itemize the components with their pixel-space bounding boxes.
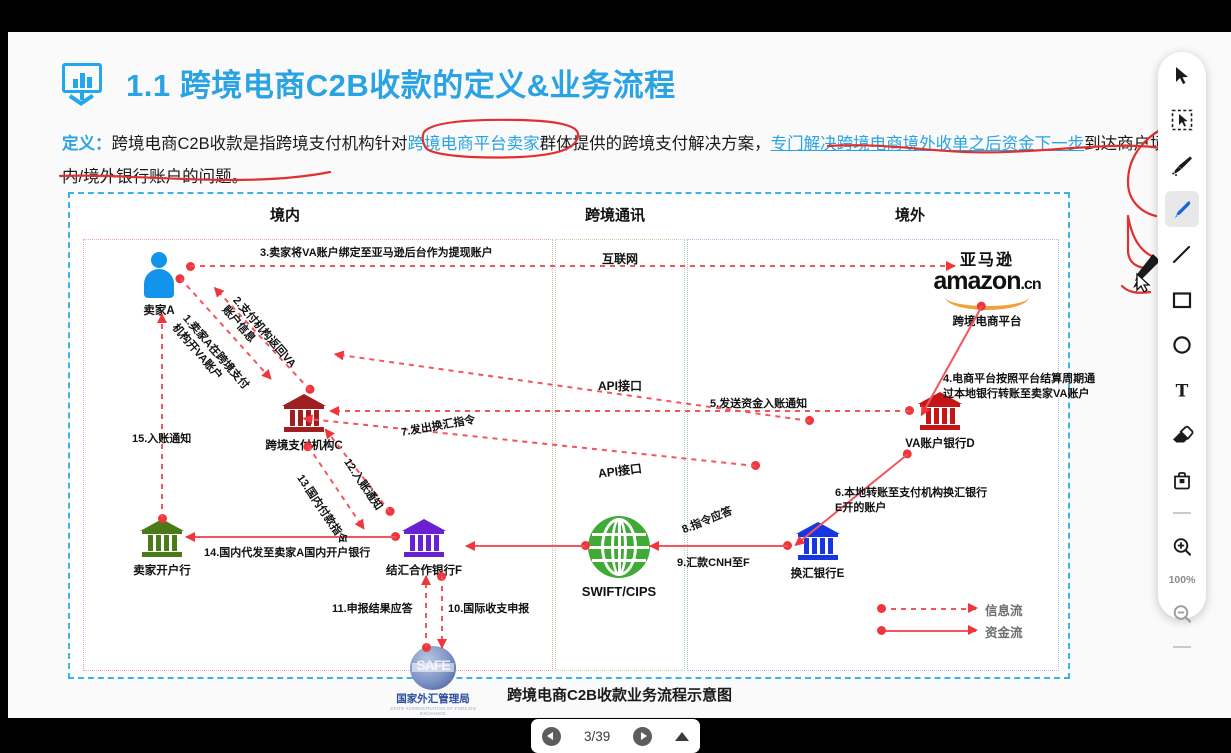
page-indicator: 3/39 (584, 729, 610, 744)
presentation-chart-icon (60, 61, 104, 105)
pen-icon[interactable] (1158, 187, 1206, 232)
node-settlement-bank-f-icon (402, 519, 446, 557)
legend-label-info-flow: 信息流 (985, 600, 1023, 619)
flow-label-10: 10.国际收支申报 (448, 602, 529, 616)
letterbox-top (0, 0, 1231, 32)
node-seller-opening-bank-icon (140, 519, 184, 557)
amazon-tld: .cn (1020, 276, 1040, 293)
line-icon[interactable] (1158, 232, 1206, 277)
flow-label-9: 9.汇款CNH至F (677, 556, 750, 570)
page-title-row: 1.1 跨境电商C2B收款的定义&业务流程 (60, 60, 676, 105)
toolbar-divider-1 (1158, 502, 1206, 524)
rectangle-icon[interactable] (1158, 277, 1206, 322)
screen: 1.1 跨境电商C2B收款的定义&业务流程 定义：跨境电商C2B收款是指跨境支付… (0, 0, 1231, 753)
flow-label-14: 14.国内代发至卖家A国内开户银行 (204, 546, 370, 560)
node-seller-a-icon (142, 252, 176, 298)
collapse-toolbar-button[interactable] (675, 732, 689, 741)
annotation-toolbar[interactable]: T 100% (1158, 52, 1206, 619)
next-page-button[interactable] (633, 727, 652, 746)
node-seller-opening-bank-label: 卖家开户行 (117, 562, 207, 578)
channel-label-api-1: API接口 (557, 379, 683, 393)
zoom-in-icon[interactable] (1158, 524, 1206, 569)
node-fx-bank-e-label: 换汇银行E (760, 565, 875, 581)
definition-label: 定义： (62, 135, 112, 153)
node-swift-cips-icon (588, 516, 650, 578)
marquee-select-icon[interactable] (1158, 97, 1206, 142)
page-navigation-bar[interactable]: 3/39 (531, 719, 700, 753)
legend-label-fund-flow: 资金流 (985, 622, 1023, 641)
legend-key-solid-icon (881, 630, 976, 632)
eraser-icon[interactable] (1158, 412, 1206, 457)
highlighter-icon[interactable] (1158, 142, 1206, 187)
prev-page-button[interactable] (542, 727, 561, 746)
flow-label-4: 4.电商平台按照平台结算周期通 过本地银行转账至卖家VA账户 (943, 372, 1095, 402)
definition-highlight-1: 跨境电商平台卖家 (408, 135, 540, 153)
node-amazon-platform: 亚马逊 amazon.cn 跨境电商平台 (922, 246, 1052, 329)
column-header-overseas: 境外 (845, 204, 975, 225)
svg-text:T: T (1176, 381, 1189, 401)
trash-icon[interactable] (1158, 457, 1206, 502)
flow-label-3: 3.卖家将VA账户绑定至亚马逊后台作为提现账户 (260, 246, 493, 260)
channel-label-internet: 互联网 (557, 252, 683, 266)
definition-part1: 跨境电商C2B收款是指跨境支付机构针对 (112, 135, 408, 153)
slide-canvas[interactable]: 1.1 跨境电商C2B收款的定义&业务流程 定义：跨境电商C2B收款是指跨境支付… (8, 32, 1231, 718)
column-header-domestic: 境内 (220, 204, 350, 225)
node-amazon-label: 跨境电商平台 (922, 313, 1052, 329)
legend-item-info-flow: 信息流 (881, 601, 1046, 623)
legend-item-fund-flow: 资金流 (881, 623, 1046, 645)
definition-highlight-2: 专门解决跨境电商境外收单之后资金下一步 (771, 135, 1085, 153)
select-cursor-icon[interactable] (1158, 52, 1206, 97)
amazon-smile-icon (945, 297, 1029, 310)
page-title: 1.1 跨境电商C2B收款的定义&业务流程 (126, 60, 676, 105)
node-va-bank-d-label: VA账户银行D (880, 435, 1000, 451)
zoom-level-label: 100% (1158, 569, 1206, 591)
diagram-legend: 信息流 资金流 (881, 601, 1046, 645)
amazon-wordmark: amazon (933, 267, 1020, 295)
flow-diagram: 境内 跨境通讯 境外 互联网 API接口 API接口 卖家A (68, 192, 1070, 679)
column-header-crossborder: 跨境通讯 (550, 204, 680, 225)
flow-label-5: 5.发送资金入账通知 (710, 397, 807, 411)
definition-paragraph: 定义：跨境电商C2B收款是指跨境支付机构针对跨境电商平台卖家群体提供的跨境支付解… (62, 128, 1167, 194)
flow-label-11: 11.申报结果应答 (332, 602, 413, 616)
flow-label-6: 6.本地转账至支付机构换汇银行 E开的账户 (835, 486, 987, 516)
diagram-caption: 跨境电商C2B收款业务流程示意图 (8, 684, 1231, 705)
zoom-out-icon[interactable] (1158, 591, 1206, 636)
toolbar-divider-2 (1158, 636, 1206, 658)
ellipse-icon[interactable] (1158, 322, 1206, 367)
node-safe-bureau: SAFE 国家外汇管理局 STATE ADMINISTRATION OF FOR… (388, 646, 478, 716)
node-swift-cips-label: SWIFT/CIPS (564, 584, 674, 599)
letterbox-left (0, 0, 8, 753)
definition-part2: 群体提供的跨境支付解决方案， (540, 135, 771, 153)
legend-key-dashed-icon (881, 608, 976, 610)
text-icon[interactable]: T (1158, 367, 1206, 412)
node-safe-sublabel: STATE ADMINISTRATION OF FOREIGN EXCHANGE (388, 706, 478, 716)
flow-label-15: 15.入账通知 (132, 432, 191, 446)
